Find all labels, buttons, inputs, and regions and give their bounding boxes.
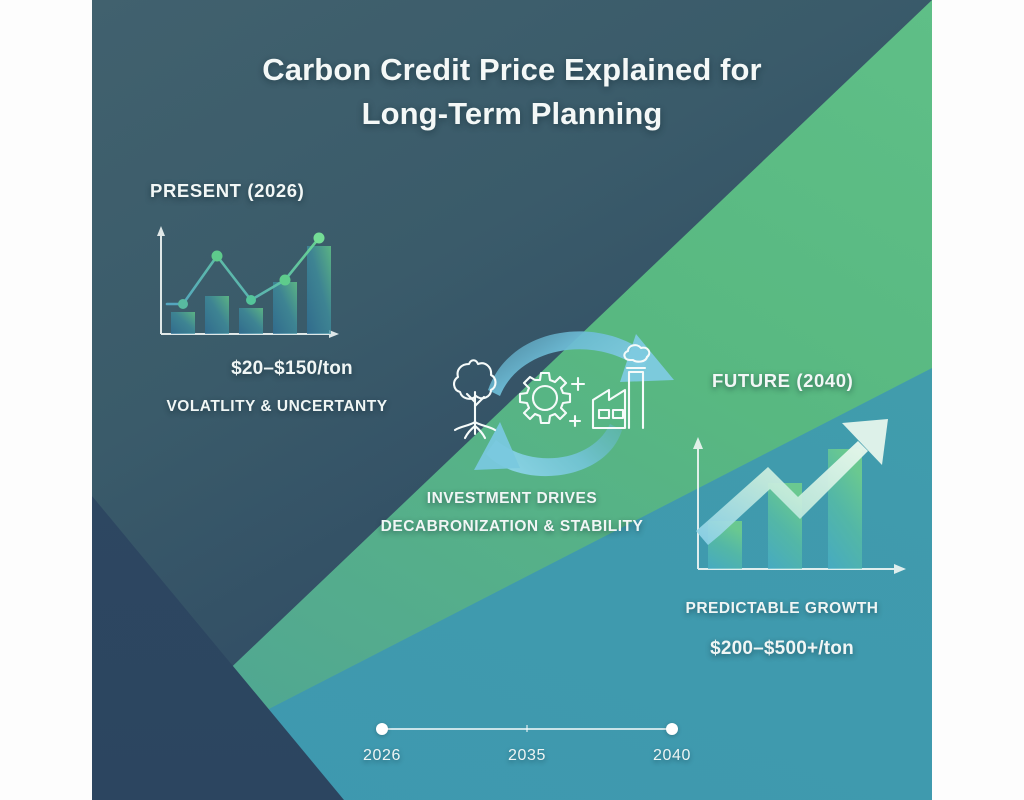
timeline-year-2026: 2026 bbox=[342, 747, 422, 765]
gear-icon bbox=[520, 373, 570, 423]
timeline-dot-start[interactable] bbox=[376, 723, 388, 735]
title-line-1: Carbon Credit Price Explained for bbox=[92, 48, 932, 92]
tree-icon bbox=[454, 360, 495, 438]
poster-title: Carbon Credit Price Explained for Long-T… bbox=[92, 48, 932, 136]
future-section-label: FUTURE (2040) bbox=[712, 370, 853, 392]
factory-icon bbox=[593, 345, 649, 428]
present-section-label: PRESENT (2026) bbox=[150, 180, 304, 202]
present-volatile-chart bbox=[137, 222, 377, 352]
future-growth-chart bbox=[662, 405, 932, 595]
infographic-canvas: Carbon Credit Price Explained for Long-T… bbox=[0, 0, 1024, 800]
present-chart-volatile-line bbox=[167, 233, 325, 310]
present-price-range: $20–$150/ton bbox=[152, 358, 432, 380]
title-line-2: Long-Term Planning bbox=[92, 92, 932, 136]
future-price-range: $200–$500+/ton bbox=[637, 638, 927, 660]
timeline-mid-tick bbox=[526, 725, 528, 732]
poster-body: Carbon Credit Price Explained for Long-T… bbox=[92, 0, 932, 800]
present-chart-svg bbox=[137, 222, 377, 352]
center-caption-line-1: INVESTMENT DRIVES bbox=[362, 490, 662, 508]
center-icons-svg bbox=[447, 340, 657, 450]
timeline-year-2040: 2040 bbox=[632, 747, 712, 765]
present-chart-bars bbox=[171, 246, 331, 334]
future-descriptor: PREDICTABLE GROWTH bbox=[637, 600, 927, 618]
timeline-dot-end[interactable] bbox=[666, 723, 678, 735]
future-chart-svg bbox=[662, 405, 932, 595]
timeline-year-2035: 2035 bbox=[487, 747, 567, 765]
center-caption-line-2: DECABRONIZATION & STABILITY bbox=[332, 518, 692, 536]
plus-icons bbox=[570, 378, 584, 426]
center-icon-cluster bbox=[447, 340, 657, 450]
timeline: 2026 2035 2040 bbox=[332, 715, 732, 780]
